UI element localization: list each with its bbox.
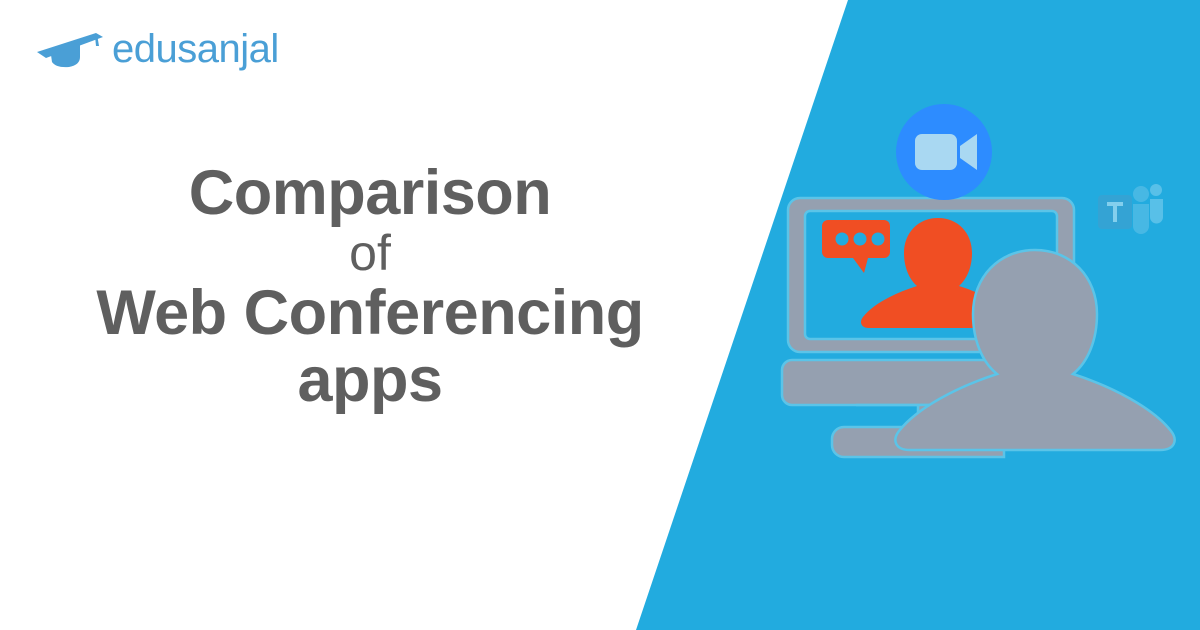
web-conferencing-illustration: [760, 90, 1200, 520]
logo-wordmark: edusanjal: [112, 29, 279, 69]
graduation-cap-icon: [34, 24, 110, 72]
headline-line-3: Web Conferencing: [40, 280, 700, 347]
promo-banner: edusanjal Comparison of Web Conferencing…: [0, 0, 1200, 630]
headline-line-2: of: [40, 227, 700, 280]
zoom-icon: [896, 104, 992, 200]
microsoft-teams-icon: [1098, 184, 1163, 234]
headline-line-1: Comparison: [40, 160, 700, 227]
chat-bubble-icon: [822, 220, 890, 273]
headline-line-4: apps: [40, 347, 700, 414]
edusanjal-logo[interactable]: edusanjal: [34, 24, 279, 72]
page-title: Comparison of Web Conferencing apps: [40, 160, 700, 413]
